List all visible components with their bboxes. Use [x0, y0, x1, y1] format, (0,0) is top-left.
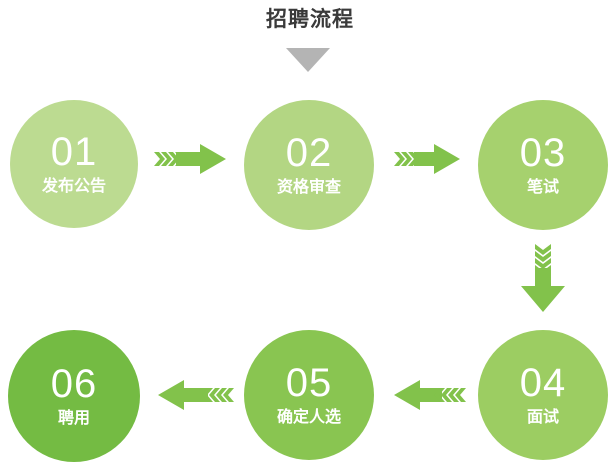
step-number: 04 [520, 361, 567, 405]
step-label: 面试 [527, 407, 559, 429]
recruitment-flow-diagram: 招聘流程 01 发布公告 02 资格审查 [0, 0, 610, 469]
step-label: 资格审查 [277, 177, 341, 199]
step-label: 笔试 [527, 177, 559, 199]
step-node-05: 05 确定人选 [244, 330, 374, 460]
step-node-01: 01 发布公告 [10, 100, 138, 228]
step-number: 01 [51, 130, 98, 174]
arrow-03-to-04 [513, 244, 573, 316]
page-title: 招聘流程 [245, 6, 375, 34]
step-label: 聘用 [58, 408, 90, 430]
step-number: 06 [51, 362, 98, 406]
step-node-04: 04 面试 [478, 330, 608, 460]
step-number: 02 [286, 131, 333, 175]
step-number: 05 [286, 361, 333, 405]
arrow-01-to-02 [154, 140, 234, 178]
arrow-04-to-05 [386, 374, 466, 416]
step-label: 发布公告 [42, 176, 106, 198]
step-number: 03 [520, 131, 567, 175]
arrow-05-to-06 [150, 374, 234, 416]
step-node-03: 03 笔试 [478, 100, 608, 230]
step-node-02: 02 资格审查 [244, 100, 374, 230]
step-label: 确定人选 [277, 407, 341, 429]
triangle-down-icon [286, 48, 330, 72]
step-node-06: 06 聘用 [8, 330, 140, 462]
arrow-02-to-03 [394, 140, 466, 178]
